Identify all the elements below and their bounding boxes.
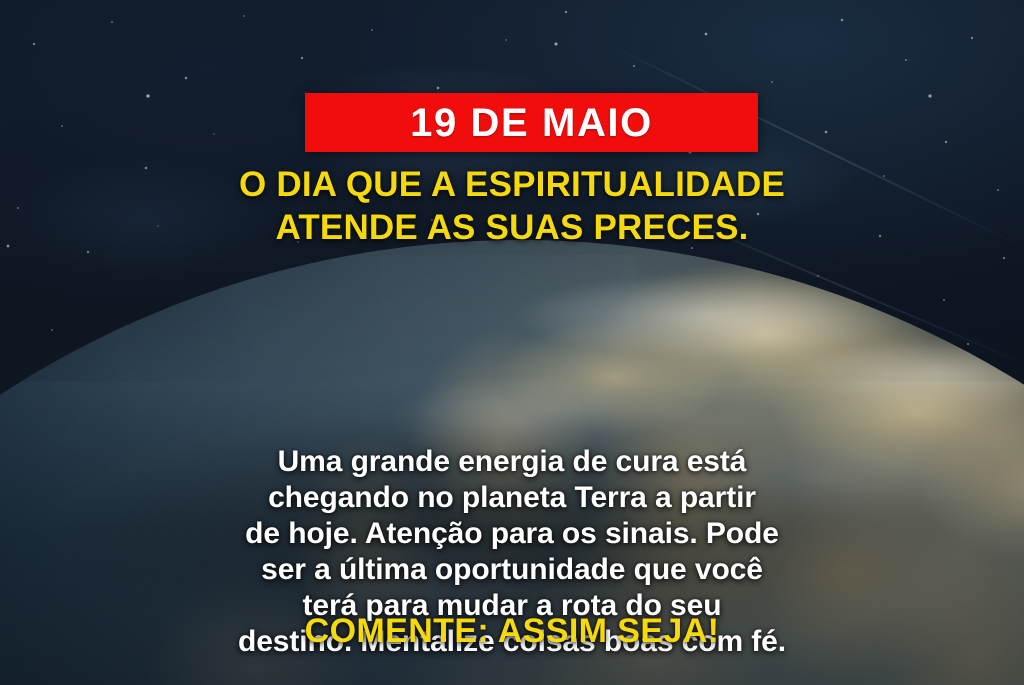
body-line-3: de hoje. Atenção para os sinais. Pode xyxy=(0,516,1024,552)
date-banner: 19 DE MAIO xyxy=(305,93,758,152)
body-line-1: Uma grande energia de cura está xyxy=(0,444,1024,480)
date-banner-label: 19 DE MAIO xyxy=(410,103,653,143)
social-media-poster: 19 DE MAIO O DIA QUE A ESPIRITUALIDADE A… xyxy=(0,0,1024,685)
body-line-2: chegando no planeta Terra a partir xyxy=(0,480,1024,516)
headline: O DIA QUE A ESPIRITUALIDADE ATENDE AS SU… xyxy=(0,164,1024,249)
poster-content: 19 DE MAIO O DIA QUE A ESPIRITUALIDADE A… xyxy=(0,0,1024,685)
headline-line-1: O DIA QUE A ESPIRITUALIDADE xyxy=(0,164,1024,207)
headline-line-2: ATENDE AS SUAS PRECES. xyxy=(0,207,1024,250)
body-line-4: ser a última oportunidade que você xyxy=(0,552,1024,588)
call-to-action: COMENTE: ASSIM SEJA! xyxy=(0,613,1024,650)
